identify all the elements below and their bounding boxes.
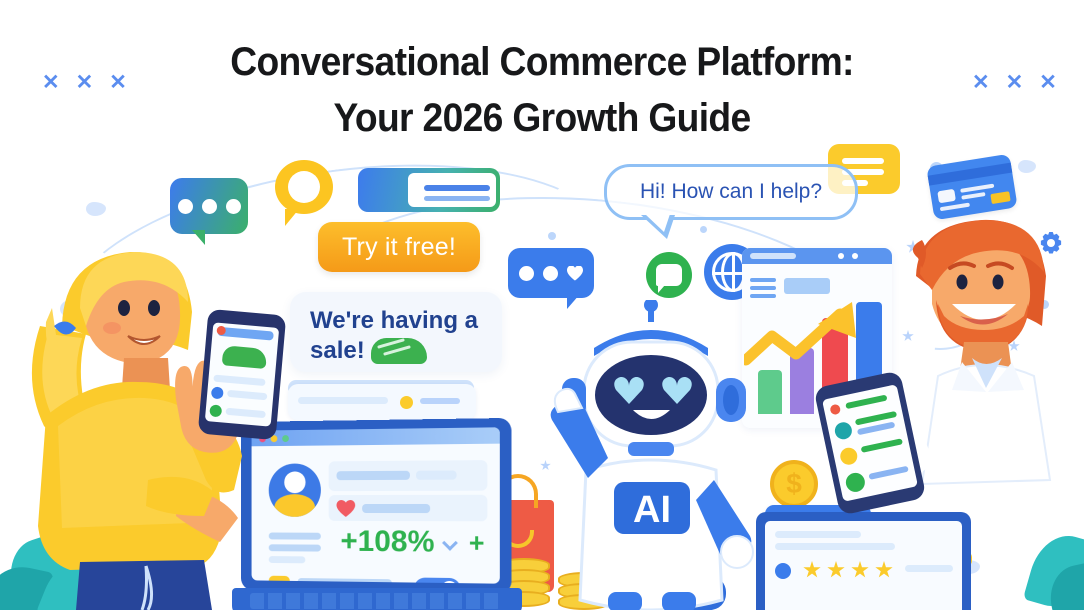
confetti-blob <box>86 202 106 216</box>
row-line <box>861 438 903 453</box>
decorative-x-cluster-left: ✕ ✕ ✕ <box>42 72 127 93</box>
phone-line <box>213 375 265 387</box>
row-line <box>298 397 388 404</box>
assistant-message: Hi! How can I help? <box>640 180 822 204</box>
x-icon: ✕ <box>109 72 127 93</box>
chat-glyph <box>656 264 682 286</box>
x-icon: ✕ <box>1039 72 1057 93</box>
settings-toggle[interactable] <box>414 578 461 584</box>
clock-bubble-yellow <box>275 160 333 214</box>
dollar-symbol: $ <box>786 468 802 500</box>
notification-card <box>358 168 500 212</box>
phone-screen <box>205 322 279 426</box>
growth-metric-secondary: + <box>469 527 485 559</box>
checklist-bullet <box>839 446 859 466</box>
x-icon: ✕ <box>972 72 990 93</box>
decorative-x-cluster-right: ✕ ✕ ✕ <box>972 72 1057 93</box>
ai-robot-mascot: AI <box>536 300 766 610</box>
green-sneaker-icon <box>371 338 427 364</box>
row-line <box>845 395 887 410</box>
star-icon <box>875 561 893 579</box>
check-icon <box>844 471 867 494</box>
card-chip <box>937 189 956 204</box>
credit-card-icon <box>926 154 1017 220</box>
phone-screen <box>822 384 918 502</box>
star-icon <box>851 561 869 579</box>
confetti-blob <box>1018 160 1036 173</box>
page-title-line2: Your 2026 Growth Guide <box>38 90 1046 146</box>
window-dot <box>838 253 844 259</box>
notification-line <box>424 196 490 201</box>
x-icon: ✕ <box>76 72 94 93</box>
smartphone-product-screen[interactable] <box>198 309 287 440</box>
window-dot <box>852 253 858 259</box>
sale-line2-wrap: sale! <box>310 336 482 366</box>
row-line <box>420 398 460 404</box>
window-url-pill <box>750 253 796 259</box>
tablet-reviews-screen <box>756 512 971 610</box>
row-line <box>337 471 410 480</box>
notification-dot <box>829 404 841 416</box>
x-icon: ✕ <box>42 72 60 93</box>
tag-icon <box>775 563 791 579</box>
green-sneaker-icon <box>222 345 268 369</box>
notification-line <box>424 185 490 191</box>
bubble-tail-inner <box>645 214 670 232</box>
dollar-coin-icon: $ <box>770 460 818 508</box>
card-gold-chip <box>990 191 1010 204</box>
reaction-bubble-blue <box>508 248 594 298</box>
row-line <box>775 531 861 538</box>
clock-face <box>288 171 320 203</box>
try-it-free-button[interactable]: Try it free! <box>318 222 480 272</box>
row-line <box>298 578 392 584</box>
hero-banner: Conversational Commerce Platform: Your 2… <box>0 0 1084 610</box>
tablet-screen <box>765 521 962 610</box>
card-line <box>940 203 970 212</box>
x-icon: ✕ <box>1006 72 1024 93</box>
try-it-free-label: Try it free! <box>342 233 456 262</box>
assistant-speech-bubble: Hi! How can I help? <box>604 164 858 220</box>
typing-bubble-teal <box>170 178 248 234</box>
star-icon <box>803 561 821 579</box>
bubble-tail <box>285 209 299 226</box>
list-row-card <box>288 384 476 420</box>
chevron-down-icon <box>442 535 458 551</box>
growth-metric: +108% <box>340 525 434 560</box>
card-line <box>960 184 994 193</box>
card-line <box>842 158 884 164</box>
row-line <box>905 565 953 572</box>
star-icon <box>827 561 845 579</box>
checklist-bullet <box>833 421 853 441</box>
message-icon <box>646 252 692 298</box>
status-dot <box>400 396 413 409</box>
page-title-line1: Conversational Commerce Platform: <box>38 34 1046 90</box>
phone-avatar <box>211 386 224 399</box>
check-icon <box>209 404 222 417</box>
sale-line1: We're having a <box>310 306 482 336</box>
chart-legend-box <box>784 278 830 294</box>
row-line <box>416 470 457 479</box>
row-line <box>868 466 908 480</box>
card-line <box>961 192 985 200</box>
phone-line <box>225 408 265 418</box>
card-magstripe <box>928 163 1013 186</box>
heart-icon <box>567 266 583 281</box>
sale-line2: sale! <box>310 337 365 364</box>
row-line <box>775 543 895 550</box>
phone-line <box>227 390 267 400</box>
page-title: Conversational Commerce Platform: Your 2… <box>0 34 1084 146</box>
svg-text:AI: AI <box>633 489 671 531</box>
row-line <box>362 504 430 513</box>
sale-announcement-card: We're having a sale! <box>290 292 502 372</box>
